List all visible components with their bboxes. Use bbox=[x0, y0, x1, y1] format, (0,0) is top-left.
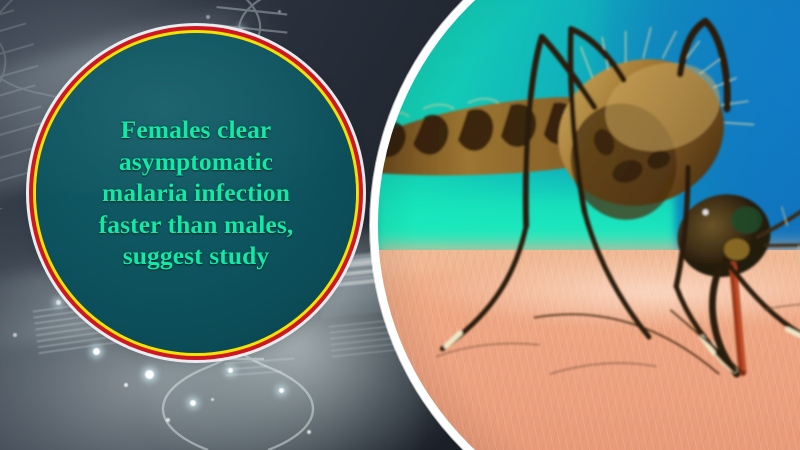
headline-line: Females clear bbox=[62, 114, 330, 146]
particle-dot bbox=[206, 15, 210, 19]
headline-text: Females clear asymptomatic malaria infec… bbox=[62, 114, 330, 272]
particle-dot bbox=[278, 10, 281, 13]
particle-dot bbox=[190, 400, 196, 406]
headline-line: asymptomatic bbox=[62, 146, 330, 178]
headline-line: faster than males, bbox=[62, 209, 330, 241]
headline-line: suggest study bbox=[62, 240, 330, 272]
particle-dot bbox=[238, 28, 243, 33]
headline-line: malaria infection bbox=[62, 177, 330, 209]
news-card-stage: Females clear asymptomatic malaria infec… bbox=[0, 0, 800, 450]
photo-vignette bbox=[378, 0, 800, 450]
particle-dot bbox=[211, 398, 214, 401]
particle-dot bbox=[56, 300, 61, 305]
mosquito-photo-inner bbox=[378, 0, 800, 450]
particle-dot bbox=[228, 368, 233, 373]
particle-dot bbox=[93, 348, 100, 355]
particle-dot bbox=[279, 388, 284, 393]
particle-dot bbox=[166, 418, 170, 422]
particle-dot bbox=[145, 370, 154, 379]
particle-dot bbox=[124, 383, 128, 387]
mosquito-photo bbox=[370, 0, 800, 450]
particle-dot bbox=[13, 333, 17, 337]
particle-dot bbox=[307, 430, 311, 434]
headline-badge: Females clear asymptomatic malaria infec… bbox=[36, 33, 356, 353]
